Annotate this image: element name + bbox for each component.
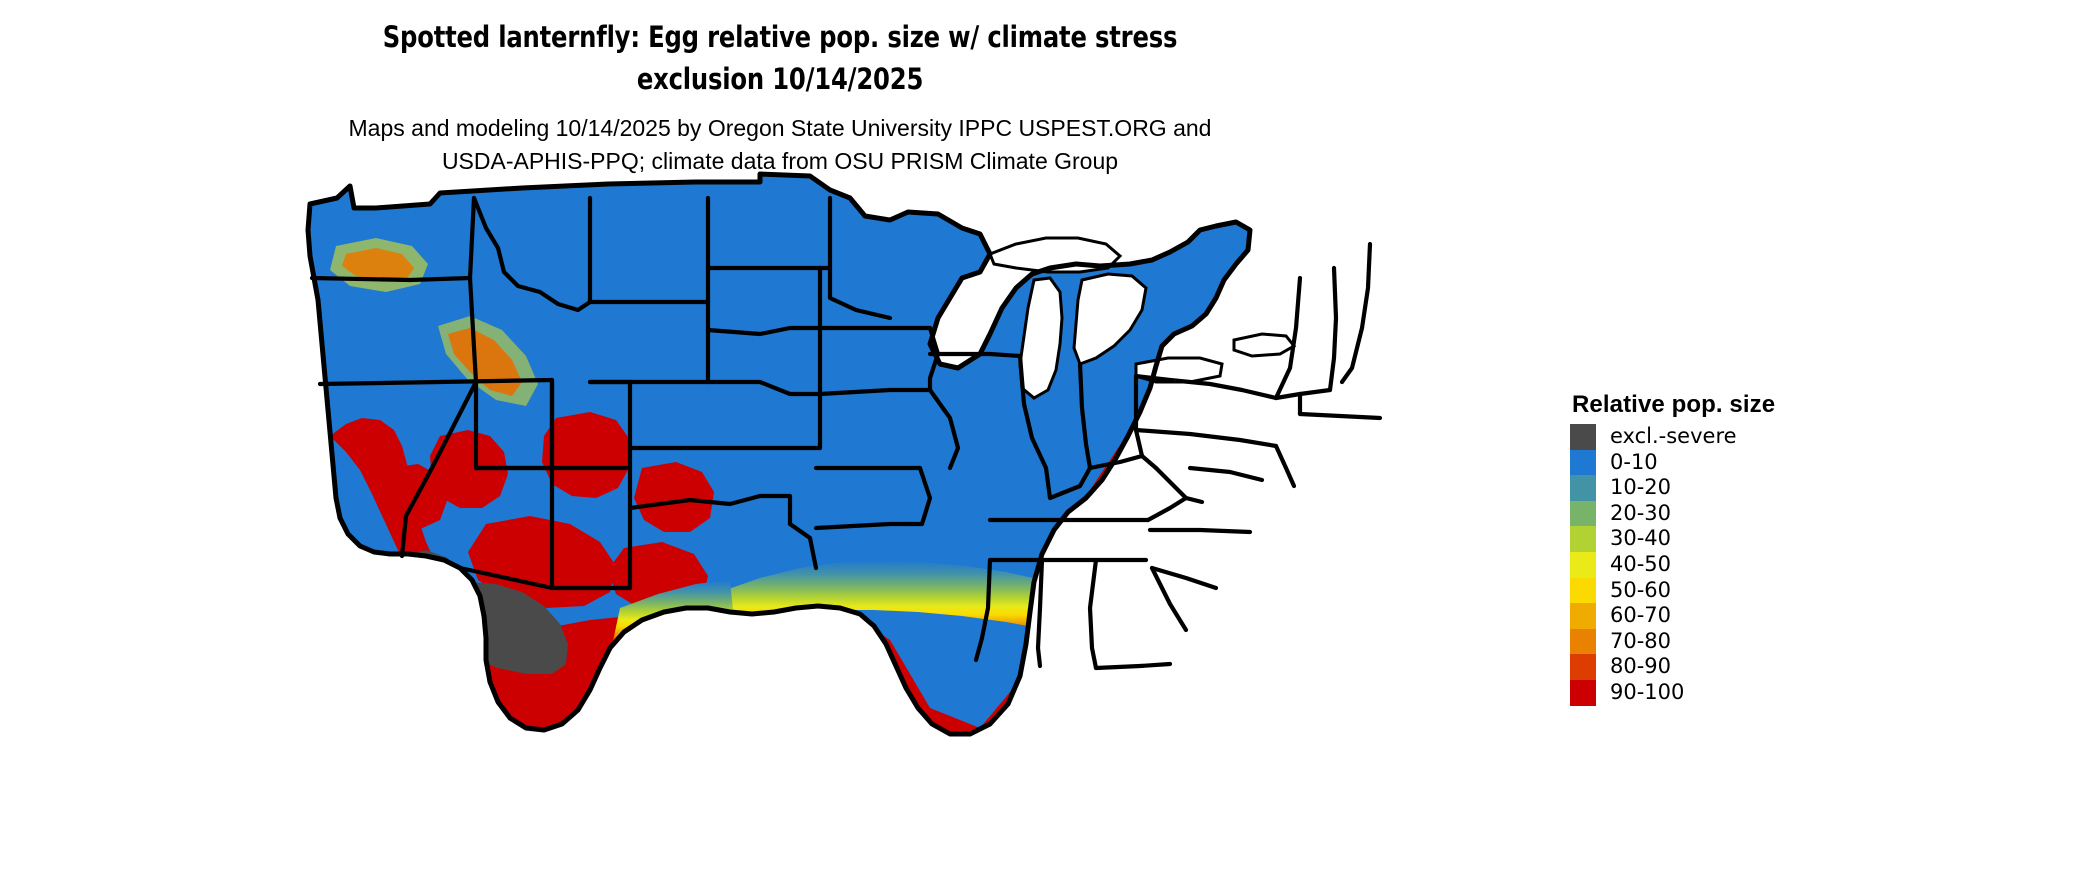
- legend-row: 30-40: [1570, 526, 1970, 552]
- map-figure: Spotted lanternfly: Egg relative pop. si…: [0, 0, 2100, 892]
- legend-label: 80-90: [1610, 654, 1671, 680]
- legend-row: 50-60: [1570, 578, 1970, 604]
- choropleth-map: [290, 168, 1550, 880]
- border-ga-al: [1090, 560, 1096, 668]
- map-canvas: [290, 168, 1550, 880]
- legend-swatch: [1570, 629, 1596, 655]
- legend-swatch: [1570, 450, 1596, 476]
- raster-class-90-100-basin2: [542, 412, 630, 498]
- legend-row: 60-70: [1570, 603, 1970, 629]
- border-ma-ct-ri: [1300, 414, 1380, 418]
- legend-label: 90-100: [1610, 680, 1684, 706]
- legend-row: excl.-severe: [1570, 424, 1970, 450]
- border-md-va: [1190, 468, 1262, 480]
- raster-class-0-10-appalachia: [1176, 678, 1234, 730]
- border-ky-va: [1148, 498, 1186, 520]
- legend-swatch: [1570, 680, 1596, 706]
- border-al-ms: [1038, 560, 1042, 666]
- legend-label: 30-40: [1610, 526, 1671, 552]
- border-wa-or: [312, 278, 470, 280]
- lake-ontario: [1234, 334, 1294, 356]
- legend-items: excl.-severe0-1010-2020-3030-4040-5050-6…: [1570, 424, 1970, 706]
- legend-row: 20-30: [1570, 501, 1970, 527]
- legend-swatch: [1570, 526, 1596, 552]
- border-va-nc: [1150, 530, 1250, 532]
- raster-class-transition-band-east: [1090, 596, 1248, 684]
- legend-label: 40-50: [1610, 552, 1671, 578]
- legend-label: 20-30: [1610, 501, 1671, 527]
- border-pa-md: [1136, 430, 1276, 446]
- border-ga-fl: [1096, 664, 1170, 668]
- legend-row: 90-100: [1570, 680, 1970, 706]
- border-wv-va: [1156, 468, 1202, 502]
- legend-swatch: [1570, 654, 1596, 680]
- legend-row: 10-20: [1570, 475, 1970, 501]
- legend-label: 70-80: [1610, 629, 1671, 655]
- legend-label: 50-60: [1610, 578, 1671, 604]
- legend-label: 0-10: [1610, 450, 1658, 476]
- legend-swatch: [1570, 603, 1596, 629]
- legend-row: 80-90: [1570, 654, 1970, 680]
- legend-label: 10-20: [1610, 475, 1671, 501]
- raster-class-0-10-appalachia-2: [1148, 730, 1190, 764]
- legend-title: Relative pop. size: [1572, 392, 1970, 418]
- legend-label: 60-70: [1610, 603, 1671, 629]
- border-nh-me: [1342, 244, 1370, 382]
- legend-row: 0-10: [1570, 450, 1970, 476]
- legend-swatch: [1570, 501, 1596, 527]
- legend-swatch: [1570, 578, 1596, 604]
- border-nj-pa: [1276, 446, 1294, 486]
- legend-row: 40-50: [1570, 552, 1970, 578]
- legend-swatch: [1570, 424, 1596, 450]
- legend-row: 70-80: [1570, 629, 1970, 655]
- raster-class-transition-band-ne: [1242, 608, 1336, 678]
- legend-swatch: [1570, 552, 1596, 578]
- page-title: Spotted lanternfly: Egg relative pop. si…: [55, 16, 1506, 100]
- border-vt-nh: [1330, 268, 1336, 390]
- legend-label: excl.-severe: [1610, 424, 1737, 450]
- title-block: Spotted lanternfly: Egg relative pop. si…: [0, 16, 1560, 178]
- map-legend: Relative pop. size excl.-severe0-1010-20…: [1570, 392, 1970, 706]
- border-wi-il: [930, 354, 1020, 356]
- legend-swatch: [1570, 475, 1596, 501]
- border-ny-vt-ma: [1276, 390, 1330, 398]
